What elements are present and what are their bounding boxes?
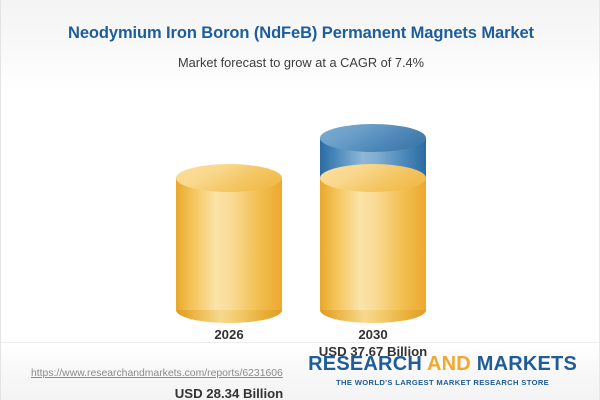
logo-word-markets: MARKETS [477, 353, 577, 375]
cylinder-segment-gold-2026 [176, 178, 282, 310]
axis-label-2030: 2030 [358, 327, 387, 342]
cylinder-cap-gold-2026 [176, 164, 282, 192]
header: Neodymium Iron Boron (NdFeB) Permanent M… [1, 0, 600, 70]
page-title: Neodymium Iron Boron (NdFeB) Permanent M… [1, 0, 600, 44]
market-forecast-infographic: Neodymium Iron Boron (NdFeB) Permanent M… [0, 0, 600, 400]
footer: https://www.researchandmarkets.com/repor… [1, 342, 600, 400]
cylinder-2026 [176, 164, 282, 310]
logo-word-and: AND [422, 353, 477, 375]
cylinder-cap-blue-2030 [320, 124, 426, 152]
footer-divider [1, 342, 600, 343]
page-subtitle: Market forecast to grow at a CAGR of 7.4… [1, 44, 600, 70]
cylinder-cap-gold-2030 [320, 164, 426, 192]
chart-plot-area: USD 28.34 Billion 2026 USD 37.67 Billion [1, 92, 600, 342]
research-and-markets-logo[interactable]: RESEARCH AND MARKETS THE WORLD'S LARGEST… [308, 354, 577, 387]
cylinder-2030 [320, 124, 426, 310]
report-url-link[interactable]: https://www.researchandmarkets.com/repor… [31, 368, 283, 379]
logo-tagline: THE WORLD'S LARGEST MARKET RESEARCH STOR… [308, 378, 577, 387]
logo-wordmark: RESEARCH AND MARKETS [308, 354, 577, 374]
cylinder-segment-gold-2030 [320, 178, 426, 310]
logo-word-research: RESEARCH [308, 353, 422, 375]
axis-label-2026: 2026 [214, 327, 243, 342]
